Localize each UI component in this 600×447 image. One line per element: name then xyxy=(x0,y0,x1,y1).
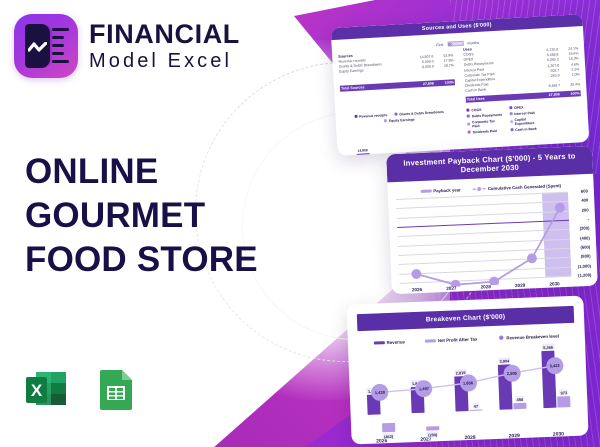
legend-label: OPEX xyxy=(514,105,524,110)
months-label: months xyxy=(467,40,479,45)
total-pct: 100% xyxy=(434,79,454,86)
legend-label: Revenue Breakeven level xyxy=(506,333,559,340)
payback-plot-area: 600 400 200 - (200) (400) (600) (800) (1… xyxy=(396,192,571,283)
sources-bar-chart: 14,808 5,000 8,000 xyxy=(342,121,461,156)
headline-line-2: GOURMET xyxy=(25,194,287,238)
months-input[interactable]: 60 xyxy=(447,41,463,47)
supported-apps: X xyxy=(22,366,140,414)
total-pct: 100% xyxy=(559,90,579,97)
sources-and-uses-panel[interactable]: Sources and Uses ($'000) First 60 months… xyxy=(331,14,590,156)
x-tick: 2030 xyxy=(536,431,580,439)
bar-item: 5,000 xyxy=(393,124,410,156)
y-tick: (200) xyxy=(580,226,590,231)
headline-line-1: ONLINE xyxy=(25,150,287,194)
legend-label: Revenue receipts xyxy=(359,113,387,119)
legend-label: Debts Repayments xyxy=(472,112,503,118)
microsoft-excel-icon: X xyxy=(22,366,70,414)
legend-item: Net Profit After Tax xyxy=(425,336,478,344)
legend-label: COGS xyxy=(471,107,481,112)
uses-chart-legend: COGS OPEX Debts Repayments Interest Paid… xyxy=(466,102,582,134)
total-label: Total Sources xyxy=(341,82,408,92)
y-tick: 600 xyxy=(581,188,588,193)
legend-item: COGS xyxy=(466,106,502,112)
legend-item: Interest Paid xyxy=(509,110,545,116)
legend-label: Cumulative Cash Generated (Spent) xyxy=(488,183,561,191)
brand-text: FINANCIAL Model Excel xyxy=(89,21,240,71)
brand-name-bottom: Model Excel xyxy=(89,51,240,71)
legend-item: Corporate Tax Paid xyxy=(467,118,503,128)
total-value: 27,808 xyxy=(534,91,560,98)
legend-label: Interest Paid xyxy=(514,111,535,116)
legend-line-swatch xyxy=(473,186,486,192)
sources-chart-block: Revenue receipts Grants & Debts Drawdown… xyxy=(341,106,460,156)
row-pct: 28.7% xyxy=(434,64,454,70)
payback-y-axis: 600 400 200 - (200) (400) (600) (800) (1… xyxy=(568,191,592,276)
legend-item: OPEX xyxy=(509,104,545,110)
legend-item: Revenue receipts xyxy=(354,113,387,119)
chart-wave-icon xyxy=(28,42,47,53)
first-label: First xyxy=(436,42,443,46)
bar-value-label: 14,808 xyxy=(357,148,367,153)
investment-payback-body: Payback year Cumulative Cash Generated (… xyxy=(387,174,598,295)
legend-item: Capital Expenditure xyxy=(510,116,546,126)
row-pct: 30.4% xyxy=(560,83,580,89)
bar-item: 8,000 xyxy=(431,122,448,156)
legend-label: Revenue xyxy=(386,339,404,345)
x-tick: 2029 xyxy=(492,432,536,440)
breakeven-panel[interactable]: Breakeven Chart ($'000) Revenue Net Prof… xyxy=(346,296,588,445)
y-tick: - xyxy=(588,216,590,221)
legend-label: Equity Earnings xyxy=(389,117,415,122)
legend-label: Cash in Bank xyxy=(515,126,537,131)
row-value: 8,468.7 xyxy=(534,84,560,91)
legend-item: Dividends Paid xyxy=(468,128,504,134)
bar-value-label: (462) xyxy=(382,433,394,439)
y-tick: (1,200) xyxy=(578,272,591,278)
total-value: 27,808 xyxy=(408,80,434,87)
legend-item: Cash in Bank xyxy=(510,126,546,132)
sources-and-uses-body: First 60 months Sources Revenue receipts… xyxy=(331,26,589,156)
legend-label: Corporate Tax Paid xyxy=(472,118,503,128)
sources-uses-table: Sources Revenue receipts 14,807.6 53.9% … xyxy=(338,41,581,109)
y-tick: (600) xyxy=(580,244,590,249)
legend-label: Dividends Paid xyxy=(473,129,497,134)
legend-bar-dark-swatch xyxy=(374,341,385,344)
y-tick: (400) xyxy=(580,235,590,240)
legend-band-swatch xyxy=(420,190,431,193)
google-sheets-icon xyxy=(92,366,140,414)
x-tick: 2028 xyxy=(448,434,492,442)
bar-value-label: (200) xyxy=(427,431,439,437)
y-tick: 400 xyxy=(581,198,588,203)
legend-item: Equity Earnings xyxy=(384,117,415,123)
uses-column: Uses COGS 6,720.0 24.1% OPEX 5,468.8 19.… xyxy=(463,41,581,102)
legend-item: Cumulative Cash Generated (Spent) xyxy=(473,183,561,192)
poster-canvas: FINANCIAL Model Excel ONLINE GOURMET FOO… xyxy=(0,0,600,447)
legend-bar-light-swatch xyxy=(425,339,436,342)
y-tick: 200 xyxy=(582,207,589,212)
breakeven-plot-area: 1,540 (462) 1,848 xyxy=(356,343,580,433)
payback-data-points xyxy=(396,192,572,289)
legend-item: Debts Repayments xyxy=(467,112,503,118)
headline-line-3: FOOD STORE xyxy=(25,238,287,282)
page-title: ONLINE GOURMET FOOD STORE xyxy=(25,150,287,282)
legend-label: Payback year xyxy=(433,187,461,193)
bar-item: 14,808 xyxy=(355,126,372,156)
icon-list-lines xyxy=(52,28,69,64)
brand-name-top: FINANCIAL xyxy=(89,21,240,48)
bar xyxy=(356,153,371,156)
financial-model-app-icon xyxy=(14,14,78,78)
y-tick: (1,000) xyxy=(578,263,591,269)
legend-dot-swatch xyxy=(497,335,504,341)
y-tick: (800) xyxy=(581,254,591,259)
sources-column: Sources Revenue receipts 14,807.6 53.9% … xyxy=(338,48,456,109)
total-label: Total Uses xyxy=(467,93,534,103)
breakeven-body: Revenue Net Profit After Tax Revenue Bre… xyxy=(347,322,588,444)
legend-label: Net Profit After Tax xyxy=(438,336,478,343)
legend-item: Payback year xyxy=(420,187,461,194)
svg-text:X: X xyxy=(31,381,43,400)
legend-item: Revenue xyxy=(373,338,405,345)
legend-item: Grants & Debts Drawdowns xyxy=(394,110,444,117)
investment-payback-panel[interactable]: Investment Payback Chart ($'000) - 5 Yea… xyxy=(386,146,598,295)
brand-lockup: FINANCIAL Model Excel xyxy=(14,14,240,78)
legend-item: Revenue Breakeven level xyxy=(497,332,559,340)
legend-label: Capital Expenditure xyxy=(514,116,545,126)
legend-label: Grants & Debts Drawdowns xyxy=(399,110,444,116)
